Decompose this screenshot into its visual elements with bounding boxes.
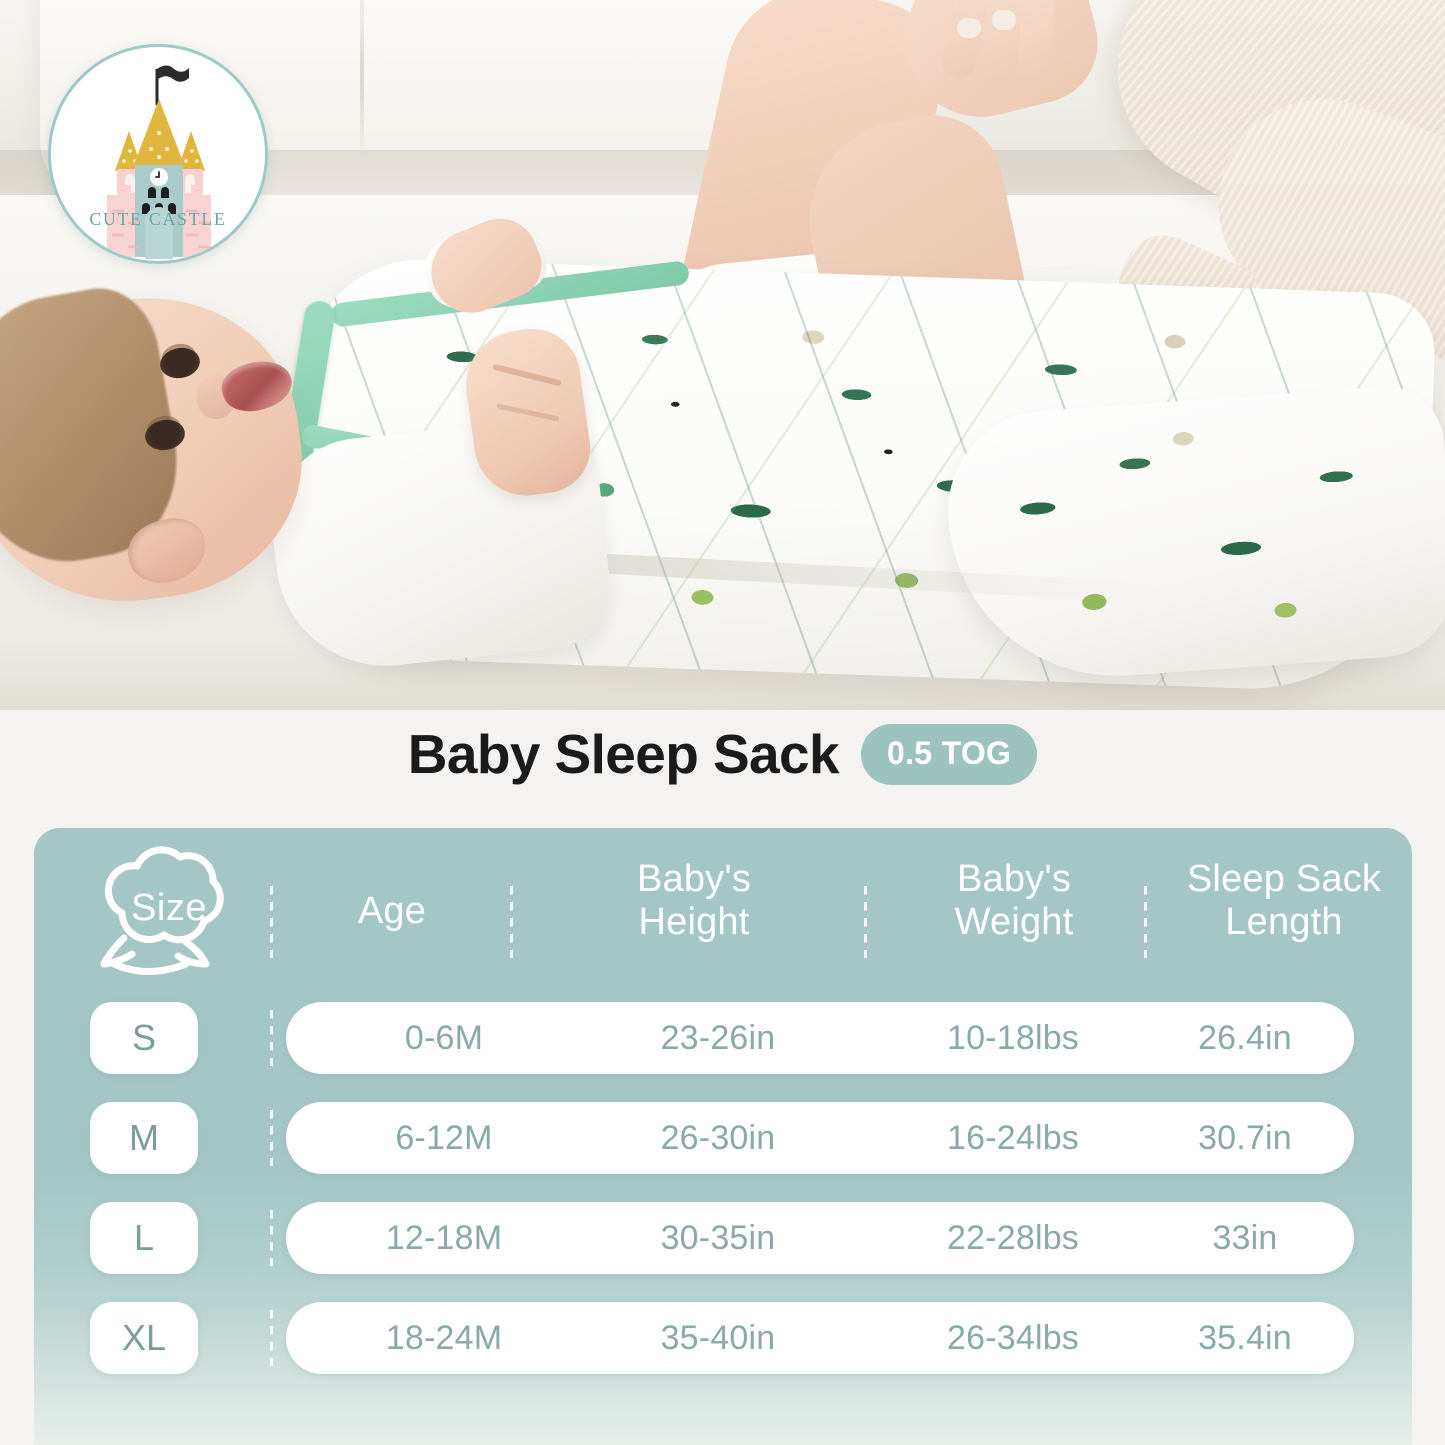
size-pill: XL (90, 1302, 198, 1374)
column-divider (270, 1210, 273, 1266)
cell-height: 35-40in (568, 1302, 868, 1374)
table-row: L 12-18M 30-35in 22-28lbs 33in (34, 1202, 1412, 1274)
cell-length: 30.7in (1152, 1102, 1338, 1174)
cell-weight: 10-18lbs (880, 1002, 1146, 1074)
sleep-sack-tail (941, 383, 1445, 687)
header-height-label: Baby's Height (534, 858, 854, 943)
column-divider (1144, 886, 1147, 958)
cell-weight: 26-34lbs (880, 1302, 1146, 1374)
cell-weight: 22-28lbs (880, 1202, 1146, 1274)
tog-badge: 0.5 TOG (861, 724, 1037, 785)
page-title: Baby Sleep Sack (408, 722, 839, 786)
fingernail (992, 10, 1016, 30)
column-divider (510, 886, 513, 958)
row-values-bar: 18-24M 35-40in 26-34lbs 35.4in (286, 1302, 1354, 1374)
header-size-label: Size (90, 842, 240, 974)
castle-logo-icon (51, 47, 267, 263)
row-values-bar: 6-12M 26-30in 16-24lbs 30.7in (286, 1102, 1354, 1174)
table-row: XL 18-24M 35-40in 26-34lbs 35.4in (34, 1302, 1412, 1374)
cell-height: 23-26in (568, 1002, 868, 1074)
column-divider (864, 886, 867, 958)
product-size-chart-infographic: CUTE CASTLE Baby Sleep Sack 0.5 TOG Size… (0, 0, 1445, 1445)
header-weight-line1: Baby's (884, 858, 1144, 901)
header-weight-line2: Weight (884, 901, 1144, 944)
column-divider (270, 886, 273, 958)
size-cloud-badge: Size (90, 842, 240, 987)
cell-age: 6-12M (326, 1102, 562, 1174)
cell-length: 26.4in (1152, 1002, 1338, 1074)
cell-age: 18-24M (326, 1302, 562, 1374)
size-chart-header-row: Size Age Baby's Height Baby's Weight Sle… (34, 828, 1412, 1000)
table-row: M 6-12M 26-30in 16-24lbs 30.7in (34, 1102, 1412, 1174)
size-pill: S (90, 1002, 198, 1074)
header-length-line2: Length (1154, 901, 1412, 944)
cell-height: 26-30in (568, 1102, 868, 1174)
header-height-line1: Baby's (534, 858, 854, 901)
title-row: Baby Sleep Sack 0.5 TOG (0, 722, 1445, 786)
row-values-bar: 0-6M 23-26in 10-18lbs 26.4in (286, 1002, 1354, 1074)
size-pill: L (90, 1202, 198, 1274)
header-length-line1: Sleep Sack (1154, 858, 1412, 901)
brand-name: CUTE CASTLE (51, 209, 265, 230)
adult-finger (1018, 0, 1055, 81)
cell-length: 33in (1152, 1202, 1338, 1274)
header-length-label: Sleep Sack Length (1154, 858, 1412, 943)
brand-logo: CUTE CASTLE (48, 44, 268, 264)
column-divider (270, 1110, 273, 1166)
fingernail (957, 18, 981, 38)
couch-seam (360, 0, 364, 160)
cell-height: 30-35in (568, 1202, 868, 1274)
header-age-label: Age (282, 890, 502, 933)
column-divider (270, 1310, 273, 1366)
column-divider (270, 1010, 273, 1066)
size-pill: M (90, 1102, 198, 1174)
cell-age: 0-6M (326, 1002, 562, 1074)
header-height-line2: Height (534, 901, 854, 944)
cell-length: 35.4in (1152, 1302, 1338, 1374)
cell-age: 12-18M (326, 1202, 562, 1274)
size-chart-table: Size Age Baby's Height Baby's Weight Sle… (34, 828, 1412, 1445)
cell-weight: 16-24lbs (880, 1102, 1146, 1174)
table-row: S 0-6M 23-26in 10-18lbs 26.4in (34, 1002, 1412, 1074)
row-values-bar: 12-18M 30-35in 22-28lbs 33in (286, 1202, 1354, 1274)
header-weight-label: Baby's Weight (884, 858, 1144, 943)
